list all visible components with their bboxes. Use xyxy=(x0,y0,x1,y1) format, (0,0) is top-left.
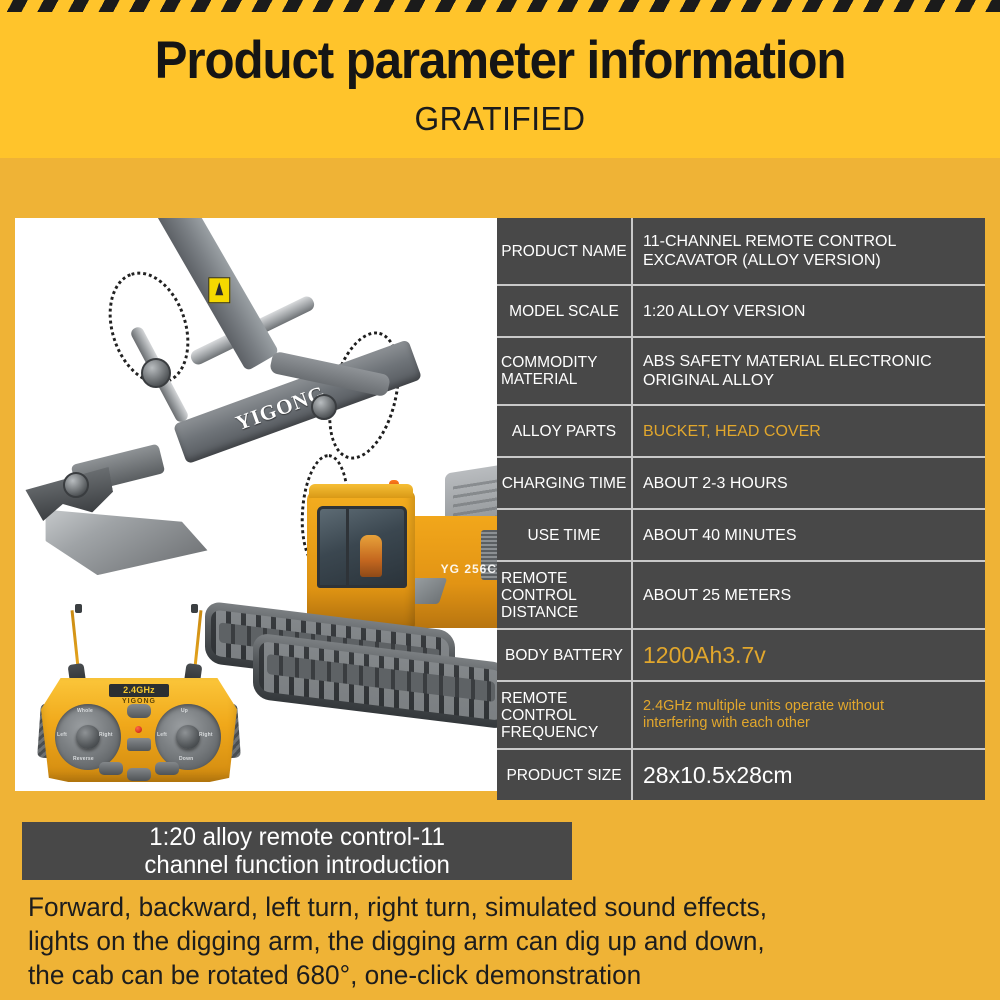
antenna-icon xyxy=(193,610,202,672)
pivot-joint-icon xyxy=(141,358,171,388)
spec-key: ALLOY PARTS xyxy=(497,406,633,456)
product-info-page: Product parameter information GRATIFIED … xyxy=(0,0,1000,1000)
joystick-direction-label: Down xyxy=(179,756,193,762)
warning-decal-icon xyxy=(208,277,230,303)
function-intro-title: 1:20 alloy remote control-11 channel fun… xyxy=(144,823,450,879)
joystick-direction-label: Whole xyxy=(77,708,93,714)
spec-key: USE TIME xyxy=(497,510,633,560)
joystick-direction-label: Up xyxy=(181,708,188,714)
table-row: PRODUCT NAME11-CHANNEL REMOTE CONTROL EX… xyxy=(497,218,985,286)
remote-button-center[interactable] xyxy=(127,768,151,781)
remote-button-left[interactable] xyxy=(99,762,123,775)
product-photo: YIGONG YG 256C xyxy=(15,218,497,791)
joystick-direction-label: Right xyxy=(199,732,213,738)
function-intro-banner: 1:20 alloy remote control-11 channel fun… xyxy=(22,822,572,880)
spec-value: ABOUT 40 MINUTES xyxy=(633,510,985,560)
spec-key: BODY BATTERY xyxy=(497,630,633,680)
spec-value: 1200Ah3.7v xyxy=(633,630,985,680)
spec-key: PRODUCT SIZE xyxy=(497,750,633,800)
spec-key: REMOTE CONTROL FREQUENCY xyxy=(497,682,633,748)
joystick-direction-label: Right xyxy=(99,732,113,738)
spec-key: CHARGING TIME xyxy=(497,458,633,508)
spec-value: 28x10.5x28cm xyxy=(633,750,985,800)
brand-subtitle: GRATIFIED xyxy=(20,100,980,138)
table-row: CHARGING TIMEABOUT 2-3 HOURS xyxy=(497,458,985,510)
excavator-cab xyxy=(307,490,415,630)
spec-value: 1:20 ALLOY VERSION xyxy=(633,286,985,336)
spec-value: 2.4GHz multiple units operate without in… xyxy=(633,682,985,748)
table-row: ALLOY PARTSBUCKET, HEAD COVER xyxy=(497,406,985,458)
joystick-direction-label: Left xyxy=(57,732,67,738)
remote-power-switch[interactable] xyxy=(127,704,151,718)
excavator-track xyxy=(253,632,497,729)
spec-value: ABOUT 25 METERS xyxy=(633,562,985,628)
cab-model-label: YG 256C xyxy=(441,562,497,576)
spec-key: REMOTE CONTROL DISTANCE xyxy=(497,562,633,628)
right-joystick-pad[interactable]: UpLeftRightDown xyxy=(155,704,221,770)
pivot-joint-icon xyxy=(311,394,337,420)
left-joystick-pad[interactable]: WholeLeftRightReverse xyxy=(55,704,121,770)
left-joystick-knob[interactable] xyxy=(76,725,100,749)
spec-value: ABS SAFETY MATERIAL ELECTRONIC ORIGINAL … xyxy=(633,338,985,404)
table-row: BODY BATTERY1200Ah3.7v xyxy=(497,630,985,682)
table-row: USE TIMEABOUT 40 MINUTES xyxy=(497,510,985,562)
pivot-joint-icon xyxy=(63,472,89,498)
remote-mode-switch[interactable] xyxy=(127,738,151,751)
remote-controller-illustration: 2.4GHz YIGONG WholeLeftRightReverse UpLe… xyxy=(41,608,241,784)
function-description: Forward, backward, left turn, right turn… xyxy=(28,890,940,992)
right-joystick-knob[interactable] xyxy=(176,725,200,749)
table-row: MODEL SCALE1:20 ALLOY VERSION xyxy=(497,286,985,338)
cab-window xyxy=(317,506,407,588)
spec-value: 11-CHANNEL REMOTE CONTROL EXCAVATOR (ALL… xyxy=(633,218,985,284)
table-row: COMMODITY MATERIALABS SAFETY MATERIAL EL… xyxy=(497,338,985,406)
spec-key: PRODUCT NAME xyxy=(497,218,633,284)
spec-key: COMMODITY MATERIAL xyxy=(497,338,633,404)
spec-value: BUCKET, HEAD COVER xyxy=(633,406,985,456)
remote-button-right[interactable] xyxy=(155,762,179,775)
power-led-icon xyxy=(135,726,142,733)
spec-value: ABOUT 2-3 HOURS xyxy=(633,458,985,508)
header-banner: Product parameter information GRATIFIED xyxy=(0,0,1000,158)
table-row: PRODUCT SIZE28x10.5x28cm xyxy=(497,750,985,800)
spec-table: PRODUCT NAME11-CHANNEL REMOTE CONTROL EX… xyxy=(497,218,985,800)
table-row: REMOTE CONTROL FREQUENCY2.4GHz multiple … xyxy=(497,682,985,750)
remote-frequency-badge: 2.4GHz xyxy=(109,684,169,697)
spec-key: MODEL SCALE xyxy=(497,286,633,336)
table-row: REMOTE CONTROL DISTANCEABOUT 25 METERS xyxy=(497,562,985,630)
joystick-direction-label: Left xyxy=(157,732,167,738)
joystick-direction-label: Reverse xyxy=(73,756,94,762)
hazard-stripe-icon xyxy=(0,0,1000,12)
page-title: Product parameter information xyxy=(35,30,965,91)
